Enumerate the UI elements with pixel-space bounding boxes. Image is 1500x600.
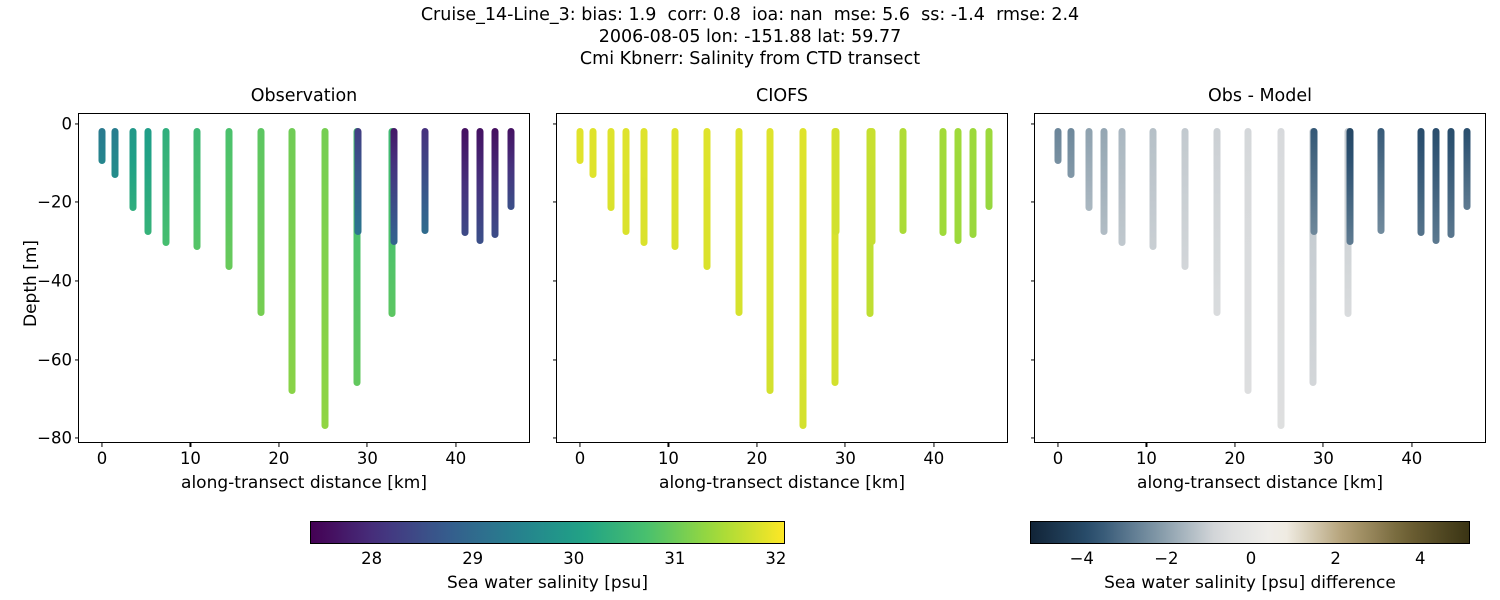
y-tick-mark xyxy=(553,123,558,124)
cast-profile xyxy=(98,128,105,164)
x-tick-label: 30 xyxy=(1313,449,1334,468)
y-tick-mark xyxy=(1031,123,1036,124)
x-tick-mark xyxy=(1411,442,1412,447)
x-tick-mark xyxy=(101,442,102,447)
panel-ciofs-title: CIOFS xyxy=(557,86,1007,106)
cast-profile xyxy=(607,128,614,212)
colorbar-tick-label: 30 xyxy=(563,549,584,568)
cast-profile xyxy=(1182,128,1189,270)
cast-profile xyxy=(640,128,647,247)
cast-profile xyxy=(226,128,233,270)
x-tick-label: 20 xyxy=(268,449,289,468)
cast-profile xyxy=(1068,128,1075,178)
colorbar-tick-label: 29 xyxy=(462,549,483,568)
panel-obs-minus-model: Obs - Model along-transect distance [km]… xyxy=(1034,113,1486,443)
y-tick-mark xyxy=(553,280,558,281)
cast-profile xyxy=(1118,128,1125,247)
x-tick-label: 40 xyxy=(923,449,944,468)
cast-profile xyxy=(671,128,678,250)
cast-profile xyxy=(1149,128,1156,250)
colorbar-salinity-difference: Sea water salinity [psu] difference −4−2… xyxy=(1030,521,1470,544)
cast-profile xyxy=(1277,128,1284,430)
x-tick-mark xyxy=(756,442,757,447)
cast-profile xyxy=(1085,128,1092,212)
y-tick-label: 0 xyxy=(62,114,73,133)
cast-profile xyxy=(767,128,774,394)
panel-observation: Observation Depth [m] along-transect dis… xyxy=(78,113,530,443)
cast-profile xyxy=(576,128,583,164)
cast-profile xyxy=(1245,128,1252,394)
x-tick-mark xyxy=(1057,442,1058,447)
y-tick-mark xyxy=(1031,202,1036,203)
colorbar-tick-label: −2 xyxy=(1154,549,1178,568)
x-tick-mark xyxy=(579,442,580,447)
y-tick-mark xyxy=(1031,280,1036,281)
suptitle-line-stats: Cruise_14-Line_3: bias: 1.9 corr: 0.8 io… xyxy=(0,4,1500,26)
cast-profile xyxy=(289,128,296,394)
x-tick-mark xyxy=(278,442,279,447)
y-tick-label: −80 xyxy=(37,429,72,448)
x-tick-mark xyxy=(933,442,934,447)
x-axis-label-observation: along-transect distance [km] xyxy=(79,473,529,493)
panel-obs-minus-model-title: Obs - Model xyxy=(1035,86,1485,106)
x-tick-mark xyxy=(845,442,846,447)
colorbar-difference-label: Sea water salinity [psu] difference xyxy=(1031,573,1469,593)
x-axis-label-difference: along-transect distance [km] xyxy=(1035,473,1485,493)
cast-profile xyxy=(736,128,743,317)
x-tick-label: 10 xyxy=(658,449,679,468)
y-tick-mark xyxy=(75,438,80,439)
x-tick-mark xyxy=(668,442,669,447)
cast-profile xyxy=(461,128,468,236)
colorbar-tick-label: 28 xyxy=(361,549,382,568)
cast-profile xyxy=(321,128,328,430)
cast-profile xyxy=(476,128,483,244)
x-tick-label: 0 xyxy=(1053,449,1064,468)
cast-profile xyxy=(421,128,428,234)
cast-profile xyxy=(112,128,119,178)
x-axis-label-ciofs: along-transect distance [km] xyxy=(557,473,1007,493)
x-tick-mark xyxy=(1146,442,1147,447)
colorbar-tick-label: 0 xyxy=(1246,549,1257,568)
cast-profile xyxy=(622,128,629,235)
x-tick-label: 40 xyxy=(1401,449,1422,468)
y-tick-mark xyxy=(75,359,80,360)
x-tick-mark xyxy=(455,442,456,447)
x-tick-mark xyxy=(1323,442,1324,447)
cast-profile xyxy=(590,128,597,178)
x-tick-label: 20 xyxy=(746,449,767,468)
colorbar-salinity-label: Sea water salinity [psu] xyxy=(311,573,784,593)
y-tick-label: −60 xyxy=(37,350,72,369)
colorbar-tick-label: 32 xyxy=(765,549,786,568)
cast-profile xyxy=(1346,128,1353,245)
cast-profile xyxy=(868,128,875,245)
cast-profile xyxy=(985,128,992,211)
cast-profile xyxy=(193,128,200,250)
x-tick-mark xyxy=(1234,442,1235,447)
cast-profile xyxy=(390,128,397,245)
y-tick-mark xyxy=(1031,359,1036,360)
colorbar-tick-label: −4 xyxy=(1070,549,1094,568)
figure-suptitle: Cruise_14-Line_3: bias: 1.9 corr: 0.8 io… xyxy=(0,4,1500,70)
cast-profile xyxy=(1214,128,1221,317)
cast-profile xyxy=(507,128,514,211)
cast-profile xyxy=(162,128,169,247)
cast-profile xyxy=(258,128,265,317)
y-tick-label: −40 xyxy=(37,271,72,290)
cast-profile xyxy=(1417,128,1424,236)
y-tick-mark xyxy=(1031,438,1036,439)
x-tick-label: 40 xyxy=(445,449,466,468)
x-tick-label: 30 xyxy=(835,449,856,468)
x-tick-label: 10 xyxy=(1136,449,1157,468)
cast-profile xyxy=(969,128,976,238)
x-tick-label: 20 xyxy=(1224,449,1245,468)
x-tick-label: 30 xyxy=(357,449,378,468)
cast-profile xyxy=(491,128,498,238)
x-tick-mark xyxy=(190,442,191,447)
cast-profile xyxy=(129,128,136,212)
x-tick-label: 0 xyxy=(97,449,108,468)
colorbar-tick-label: 2 xyxy=(1330,549,1341,568)
panel-observation-title: Observation xyxy=(79,86,529,106)
cast-profile xyxy=(1054,128,1061,164)
y-tick-mark xyxy=(75,202,80,203)
cast-profile xyxy=(354,128,361,235)
x-tick-label: 10 xyxy=(180,449,201,468)
cast-profile xyxy=(832,128,839,235)
suptitle-line-date: 2006-08-05 lon: -151.88 lat: 59.77 xyxy=(0,26,1500,48)
x-tick-label: 0 xyxy=(575,449,586,468)
y-tick-mark xyxy=(553,438,558,439)
cast-profile xyxy=(1463,128,1470,211)
cast-profile xyxy=(1310,128,1317,235)
cast-profile xyxy=(939,128,946,236)
cast-profile xyxy=(1100,128,1107,235)
cast-profile xyxy=(1377,128,1384,234)
y-tick-mark xyxy=(75,280,80,281)
cast-profile xyxy=(1432,128,1439,244)
cast-profile xyxy=(704,128,711,270)
cast-profile xyxy=(144,128,151,235)
colorbar-tick-label: 31 xyxy=(664,549,685,568)
y-tick-label: −20 xyxy=(37,193,72,212)
cast-profile xyxy=(1447,128,1454,238)
suptitle-line-dataset: Cmi Kbnerr: Salinity from CTD transect xyxy=(0,48,1500,70)
x-tick-mark xyxy=(367,442,368,447)
cast-profile xyxy=(799,128,806,430)
colorbar-salinity: Sea water salinity [psu] 2829303132 xyxy=(310,521,785,544)
y-tick-mark xyxy=(75,123,80,124)
y-tick-mark xyxy=(553,202,558,203)
cast-profile xyxy=(954,128,961,244)
y-tick-mark xyxy=(553,359,558,360)
cast-profile xyxy=(899,128,906,234)
colorbar-tick-label: 4 xyxy=(1415,549,1426,568)
panel-ciofs: CIOFS along-transect distance [km] 01020… xyxy=(556,113,1008,443)
